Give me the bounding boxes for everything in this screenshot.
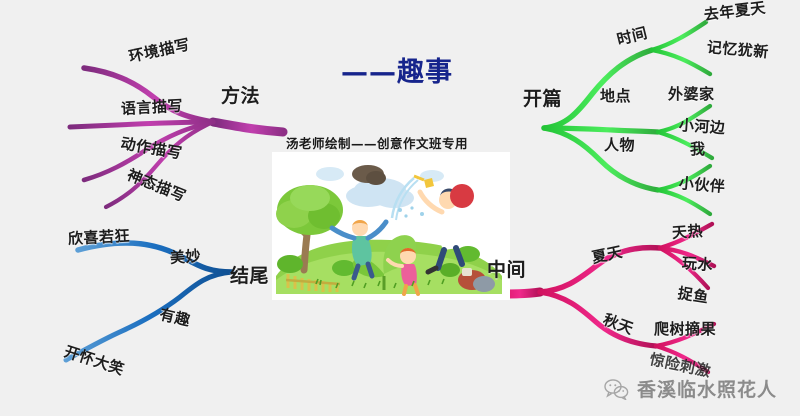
node-tianre[interactable]: 天热 xyxy=(671,220,703,243)
node-waipojia[interactable]: 外婆家 xyxy=(668,83,715,104)
children-playing-in-park-illustration xyxy=(272,152,510,300)
node-xiaohuoban[interactable]: 小伙伴 xyxy=(678,172,726,197)
node-wanshui[interactable]: 玩水 xyxy=(681,252,713,275)
node-wo[interactable]: 我 xyxy=(690,138,706,159)
branch-label-zhongjian[interactable]: 中间 xyxy=(487,255,526,282)
node-yuyan-miaoxie[interactable]: 语言描写 xyxy=(120,95,183,119)
node-didian[interactable]: 地点 xyxy=(600,85,631,106)
branch-label-jiewei[interactable]: 结尾 xyxy=(230,261,269,288)
watermark: 香溪临水照花人 xyxy=(604,375,777,402)
watermark-text: 香溪临水照花人 xyxy=(637,375,777,402)
node-renwu[interactable]: 人物 xyxy=(604,134,635,155)
credit-line: 汤老师绘制——创意作文班专用 xyxy=(286,133,468,152)
branch-label-fangfa[interactable]: 方法 xyxy=(221,81,260,108)
mindmap-canvas: ——趣事 汤老师绘制——创意作文班专用 方法 环境描写 语言描写 动作描写 神态… xyxy=(0,0,800,416)
node-xinxi-ruokuang[interactable]: 欣喜若狂 xyxy=(67,225,130,249)
node-meimiao[interactable]: 美妙 xyxy=(169,245,201,268)
page-title: ——趣事 xyxy=(341,50,453,89)
branch-label-kaipian[interactable]: 开篇 xyxy=(523,84,562,111)
node-xiaohebian[interactable]: 小河边 xyxy=(678,114,726,138)
node-pashu-zhaiguo[interactable]: 爬树摘果 xyxy=(654,318,716,339)
wechat-icon xyxy=(604,378,630,400)
